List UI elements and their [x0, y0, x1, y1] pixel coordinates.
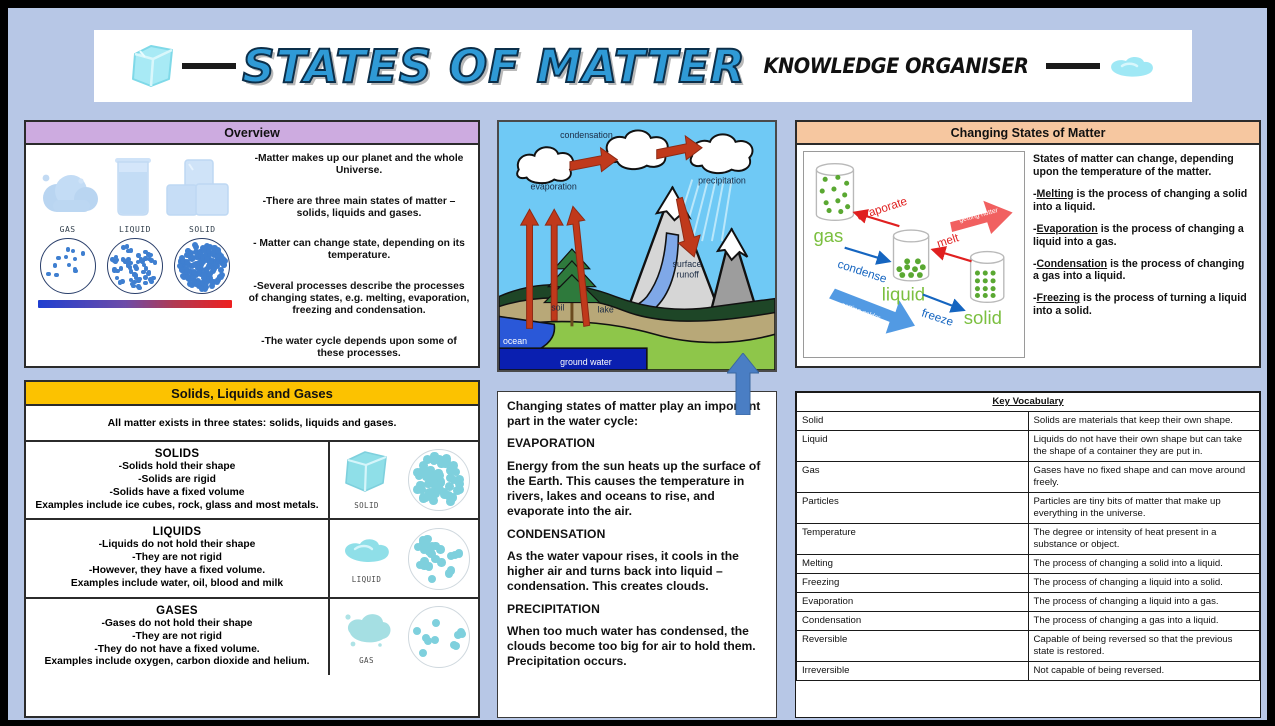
overview-point: -The water cycle depends upon some of th…: [248, 336, 470, 360]
vocab-term: Melting: [797, 554, 1029, 573]
state-word-gas: gas: [813, 225, 843, 246]
changing-paragraph-1: -Melting is the process of changing a so…: [1033, 188, 1251, 214]
solid-ice-icon: [163, 158, 233, 223]
slg-picture-a: SOLID: [339, 450, 395, 510]
table-row: LiquidLiquids do not have their own shap…: [797, 430, 1260, 461]
table-row: SOLIDS -Solids hold their shape -Solids …: [26, 442, 478, 520]
wc-label-lake: lake: [598, 304, 614, 314]
ice-cube-icon: [128, 43, 176, 89]
particle-circle-solid: [174, 238, 230, 294]
overview-point: -There are three main states of matter –…: [248, 196, 470, 220]
slg-line: -However, they have a fixed volume.: [31, 565, 323, 578]
state-word-solid: solid: [964, 307, 1002, 328]
table-row: MeltingThe process of changing a solid i…: [797, 554, 1260, 573]
slg-line: -Solids hold their shape: [31, 461, 323, 474]
overview-figure: GAS LIQUID SOLID: [26, 145, 244, 364]
slg-line: -Solids are rigid: [31, 474, 323, 487]
transition-condense: condense: [836, 258, 888, 286]
slg-cell-pictures: LIQUID: [330, 520, 478, 596]
changing-paragraph-4: -Freezing is the process of turning a li…: [1033, 292, 1251, 318]
slg-cell-text: GASES -Gases do not hold their shape -Th…: [26, 599, 330, 675]
table-row: LIQUIDS -Liquids do not hold their shape…: [26, 520, 478, 598]
slg-picture-a: GAS: [339, 609, 395, 665]
vocab-term: Evaporation: [797, 592, 1029, 611]
vocab-term: Reversible: [797, 630, 1029, 661]
changing-states-panel: Changing States of Matter getting hotter…: [795, 120, 1261, 368]
slg-line: -They do not have a fixed volume.: [31, 644, 323, 657]
slg-cell-text: SOLIDS -Solids hold their shape -Solids …: [26, 442, 330, 518]
table-row: TemperatureThe degree or intensity of he…: [797, 523, 1260, 554]
wc-section-heading: CONDENSATION: [507, 527, 768, 542]
transition-evaporate: evaporate: [855, 195, 909, 223]
state-label-row: GAS LIQUID SOLID: [34, 225, 236, 234]
slg-particle-circle-liquid: [408, 528, 470, 590]
vocab-term: Irreversible: [797, 661, 1029, 680]
slg-cell-pictures: SOLID: [330, 442, 478, 518]
title-rule-right: [1046, 63, 1100, 69]
table-row: ReversibleCapable of being reversed so t…: [797, 630, 1260, 661]
slg-row-title: GASES: [31, 605, 323, 617]
state-label-gas: GAS: [37, 225, 99, 234]
changing-paragraph-2: -Evaporation is the process of changing …: [1033, 223, 1251, 249]
overview-panel: Overview: [24, 120, 480, 368]
vocab-definition: Liquids do not have their own shape but …: [1028, 430, 1260, 461]
vocab-definition: The process of changing a liquid into a …: [1028, 592, 1260, 611]
blue-up-arrow: [727, 353, 759, 415]
poster-canvas: STATES OF MATTER KNOWLEDGE ORGANISER Ove…: [8, 8, 1267, 720]
vocab-header-row: Key Vocabulary: [797, 393, 1260, 412]
slg-cell-pictures: GAS: [330, 599, 478, 675]
vocab-definition: The degree or intensity of heat present …: [1028, 523, 1260, 554]
vocab-term: Solid: [797, 411, 1029, 430]
particle-circle-liquid: [107, 238, 163, 294]
solid-beaker-illustration: [971, 252, 1004, 303]
changing-paragraph-0: States of matter can change, depending u…: [1033, 153, 1251, 179]
water-puddle-icon: [341, 534, 393, 568]
vocab-definition: Gases have no fixed shape and can move a…: [1028, 461, 1260, 492]
vocab-term: Particles: [797, 492, 1029, 523]
page-subtitle: KNOWLEDGE ORGANISER: [763, 54, 1028, 78]
solids-liquids-gases-panel: Solids, Liquids and Gases All matter exi…: [24, 380, 480, 718]
wc-section-heading: EVAPORATION: [507, 436, 768, 451]
vocab-definition: Capable of being reversed so that the pr…: [1028, 630, 1260, 661]
wc-label-evaporation: evaporation: [531, 181, 577, 191]
vocab-definition: The process of changing a solid into a l…: [1028, 554, 1260, 573]
overview-body: GAS LIQUID SOLID -Matter makes up our pl…: [26, 145, 478, 364]
slg-caption: GAS: [339, 656, 395, 665]
slg-intro: All matter exists in three states: solid…: [26, 406, 478, 442]
state-word-liquid: liquid: [882, 283, 925, 304]
slg-line: Examples include water, oil, blood and m…: [31, 578, 323, 591]
slg-line: Examples include ice cubes, rock, glass …: [31, 500, 323, 513]
wc-label-ocean: ocean: [503, 336, 527, 346]
wc-label-ground-water: ground water: [560, 357, 612, 367]
slg-cell-text: LIQUIDS -Liquids do not hold their shape…: [26, 520, 330, 596]
particle-circle-gas: [40, 238, 96, 294]
transition-freeze: freeze: [920, 306, 955, 328]
wc-section-heading: PRECIPITATION: [507, 602, 768, 617]
slg-caption: LIQUID: [339, 575, 395, 584]
overview-text-list: -Matter makes up our planet and the whol…: [244, 145, 478, 364]
changing-states-heading: Changing States of Matter: [797, 122, 1259, 145]
wc-section-body: As the water vapour rises, it cools in t…: [507, 549, 768, 595]
table-row: FreezingThe process of changing a liquid…: [797, 573, 1260, 592]
page-title: STATES OF MATTER: [242, 44, 745, 89]
table-row: SolidSolids are materials that keep thei…: [797, 411, 1260, 430]
table-row: GASES -Gases do not hold their shape -Th…: [26, 599, 478, 675]
vocab-term: Condensation: [797, 611, 1029, 630]
vocab-definition: Not capable of being reversed.: [1028, 661, 1260, 680]
water-cycle-text-panel: Changing states of matter play an import…: [497, 391, 777, 718]
slg-picture-a: LIQUID: [339, 534, 395, 584]
temperature-gradient-bar: [38, 300, 232, 308]
wc-section-body: Energy from the sun heats up the surface…: [507, 459, 768, 520]
gas-cloud-icon: [340, 609, 394, 649]
slg-line: -Gases do not hold their shape: [31, 618, 323, 631]
wc-label-soil: soil: [551, 302, 564, 312]
water-puddle-icon: [1106, 51, 1158, 81]
key-vocabulary-table: Key Vocabulary SolidSolids are materials…: [796, 392, 1260, 681]
vocab-term: Liquid: [797, 430, 1029, 461]
overview-point: - Matter can change state, depending on …: [248, 238, 470, 262]
vocab-term: Freezing: [797, 573, 1029, 592]
state-label-solid: SOLID: [171, 225, 233, 234]
changing-states-text: States of matter can change, depending u…: [1033, 151, 1253, 358]
slg-line: -Liquids do not hold their shape: [31, 539, 323, 552]
particle-circles: [34, 238, 236, 294]
vocab-definition: The process of changing a gas into a liq…: [1028, 611, 1260, 630]
gas-beaker-illustration: [816, 164, 853, 221]
slg-particle-circle-gas: [408, 606, 470, 668]
table-row: IrreversibleNot capable of being reverse…: [797, 661, 1260, 680]
slg-line: -They are not rigid: [31, 631, 323, 644]
gas-cloud-icon: [37, 170, 103, 223]
state-label-liquid: LIQUID: [104, 225, 166, 234]
vocab-definition: The process of changing a liquid into a …: [1028, 573, 1260, 592]
title-rule-left: [182, 63, 236, 69]
ice-cube-icon: [343, 450, 391, 494]
vocab-definition: Particles are tiny bits of matter that m…: [1028, 492, 1260, 523]
slg-particle-circle-solid: [408, 449, 470, 511]
wc-label-surface-runoff-2: runoff: [676, 270, 699, 280]
vocab-term: Gas: [797, 461, 1029, 492]
vocab-definition: Solids are materials that keep their own…: [1028, 411, 1260, 430]
changing-paragraph-3: -Condensation is the process of changing…: [1033, 258, 1251, 284]
table-row: GasGases have no fixed shape and can mov…: [797, 461, 1260, 492]
key-vocabulary-panel: Key Vocabulary SolidSolids are materials…: [795, 391, 1261, 718]
transition-melt: melt: [935, 231, 961, 250]
wc-label-condensation: condensation: [560, 130, 613, 140]
slg-row-title: LIQUIDS: [31, 526, 323, 538]
slg-heading: Solids, Liquids and Gases: [26, 382, 478, 406]
wc-section-body: When too much water has condensed, the c…: [507, 624, 768, 670]
changing-states-body: getting hotter getting colder: [797, 145, 1259, 364]
table-row: CondensationThe process of changing a ga…: [797, 611, 1260, 630]
table-row: EvaporationThe process of changing a liq…: [797, 592, 1260, 611]
slg-line: Examples include oxygen, carbon dioxide …: [31, 656, 323, 669]
overview-point: -Several processes describe the processe…: [248, 281, 470, 317]
overview-point: -Matter makes up our planet and the whol…: [248, 153, 470, 177]
changing-states-diagram: getting hotter getting colder: [803, 151, 1025, 358]
water-cycle-diagram: condensation precipitation evaporation s…: [497, 120, 777, 372]
vocab-heading: Key Vocabulary: [797, 393, 1260, 412]
poster-root: STATES OF MATTER KNOWLEDGE ORGANISER Ove…: [0, 0, 1275, 726]
title-banner: STATES OF MATTER KNOWLEDGE ORGANISER: [94, 30, 1192, 102]
slg-caption: SOLID: [339, 501, 395, 510]
overview-heading: Overview: [26, 122, 478, 145]
liquid-beaker-illustration: [894, 230, 929, 281]
slg-line: -Solids have a fixed volume: [31, 487, 323, 500]
wc-label-surface-runoff-1: surface: [672, 259, 701, 269]
liquid-beaker-icon: [110, 156, 156, 223]
state-illustrations: [34, 151, 236, 223]
vocab-term: Temperature: [797, 523, 1029, 554]
slg-line: -They are not rigid: [31, 552, 323, 565]
table-row: ParticlesParticles are tiny bits of matt…: [797, 492, 1260, 523]
wc-label-precipitation: precipitation: [698, 175, 746, 185]
slg-row-title: SOLIDS: [31, 448, 323, 460]
